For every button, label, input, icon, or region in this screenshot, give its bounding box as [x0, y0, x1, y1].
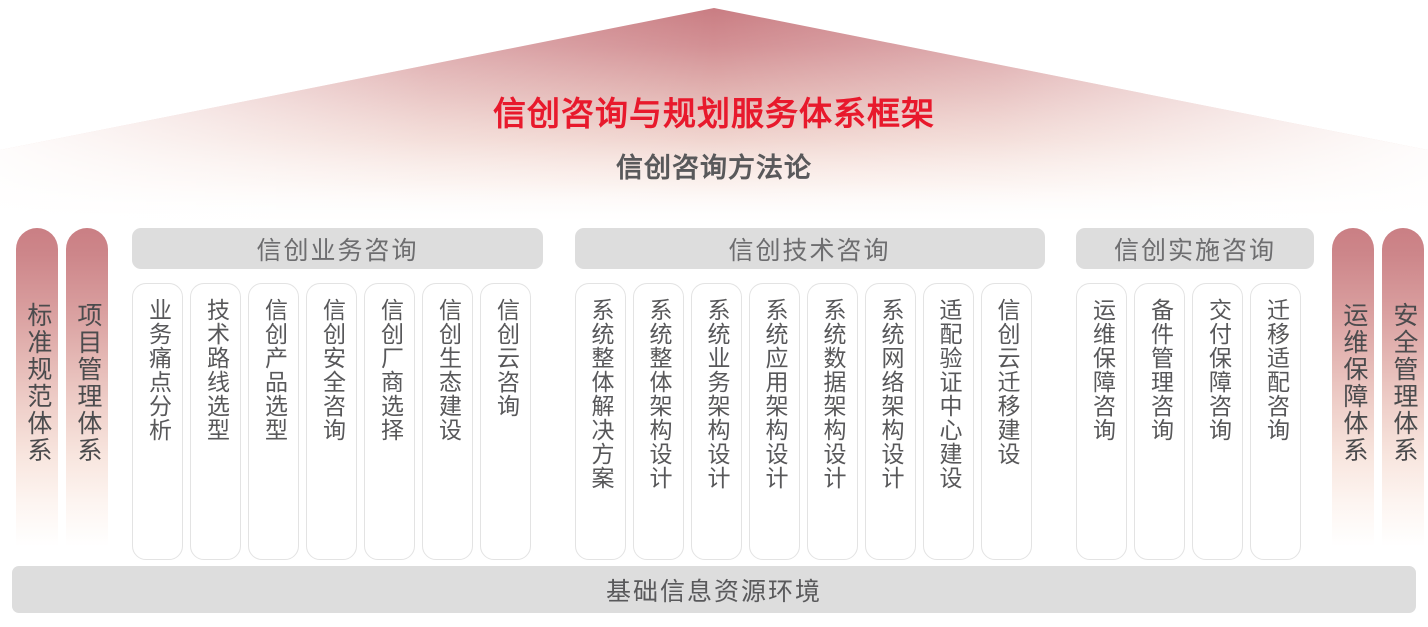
group-business-consulting: 信创业务咨询 业务痛点分析 技术路线选型 信创产品选型 信创安全咨询 信创厂商选…: [132, 228, 543, 560]
item-card[interactable]: 信创安全咨询: [306, 283, 357, 560]
item-card[interactable]: 系统数据架构设计: [807, 283, 858, 560]
roof-shape: [0, 0, 1428, 222]
item-card[interactable]: 业务痛点分析: [132, 283, 183, 560]
item-card[interactable]: 系统整体解决方案: [575, 283, 626, 560]
pillar-label: 标准规范体系: [24, 302, 50, 464]
item-label: 信创生态建设: [436, 298, 460, 442]
item-label: 系统整体解决方案: [588, 298, 612, 490]
pillars-and-columns: 标准规范体系 项目管理体系 信创业务咨询 业务痛点分析 技术路线选型 信创产品选…: [0, 228, 1428, 560]
item-card[interactable]: 系统业务架构设计: [691, 283, 742, 560]
item-label: 信创产品选型: [262, 298, 286, 442]
group-header[interactable]: 信创实施咨询: [1076, 228, 1314, 269]
group-items: 运维保障咨询 备件管理咨询 交付保障咨询 迁移适配咨询: [1076, 283, 1314, 560]
item-card[interactable]: 信创云咨询: [480, 283, 531, 560]
item-card[interactable]: 系统整体架构设计: [633, 283, 684, 560]
foundation-bar[interactable]: 基础信息资源环境: [12, 566, 1416, 613]
item-card[interactable]: 迁移适配咨询: [1250, 283, 1301, 560]
item-card[interactable]: 适配验证中心建设: [923, 283, 974, 560]
item-card[interactable]: 系统网络架构设计: [865, 283, 916, 560]
item-card[interactable]: 信创云迁移建设: [981, 283, 1032, 560]
item-label: 信创安全咨询: [320, 298, 344, 442]
group-header[interactable]: 信创技术咨询: [575, 228, 1045, 269]
item-label: 系统数据架构设计: [820, 298, 844, 490]
item-card[interactable]: 信创产品选型: [248, 283, 299, 560]
item-label: 备件管理咨询: [1148, 298, 1172, 442]
diagram-canvas: 信创咨询与规划服务体系框架 信创咨询方法论 标准规范体系 项目管理体系 信创业务…: [0, 0, 1428, 627]
group-items: 业务痛点分析 技术路线选型 信创产品选型 信创安全咨询 信创厂商选择 信创生态建…: [132, 283, 543, 560]
right-pillar-group: 运维保障体系 安全管理体系: [1328, 228, 1428, 560]
item-label: 运维保障咨询: [1090, 298, 1114, 442]
item-card[interactable]: 技术路线选型: [190, 283, 241, 560]
item-card[interactable]: 运维保障咨询: [1076, 283, 1127, 560]
item-label: 适配验证中心建设: [936, 298, 960, 490]
item-label: 业务痛点分析: [146, 298, 170, 442]
group-items: 系统整体解决方案 系统整体架构设计 系统业务架构设计 系统应用架构设计 系统数据…: [575, 283, 1045, 560]
item-label: 系统整体架构设计: [646, 298, 670, 490]
consulting-groups: 信创业务咨询 业务痛点分析 技术路线选型 信创产品选型 信创安全咨询 信创厂商选…: [112, 228, 1328, 560]
item-label: 系统应用架构设计: [762, 298, 786, 490]
item-label: 系统业务架构设计: [704, 298, 728, 490]
pillar-label: 运维保障体系: [1340, 302, 1366, 464]
item-label: 信创厂商选择: [378, 298, 402, 442]
pillar-label: 安全管理体系: [1390, 302, 1416, 464]
pillar-standard-spec-system[interactable]: 标准规范体系: [16, 228, 58, 560]
group-technical-consulting: 信创技术咨询 系统整体解决方案 系统整体架构设计 系统业务架构设计 系统应用架构…: [575, 228, 1045, 560]
pillar-security-management-system[interactable]: 安全管理体系: [1382, 228, 1424, 560]
item-card[interactable]: 信创厂商选择: [364, 283, 415, 560]
item-label: 迁移适配咨询: [1264, 298, 1288, 442]
group-header[interactable]: 信创业务咨询: [132, 228, 543, 269]
pillar-ops-assurance-system[interactable]: 运维保障体系: [1332, 228, 1374, 560]
group-implementation-consulting: 信创实施咨询 运维保障咨询 备件管理咨询 交付保障咨询 迁移适配咨询: [1076, 228, 1314, 560]
item-card[interactable]: 备件管理咨询: [1134, 283, 1185, 560]
pillar-project-management-system[interactable]: 项目管理体系: [66, 228, 108, 560]
item-card[interactable]: 信创生态建设: [422, 283, 473, 560]
foundation-label: 基础信息资源环境: [606, 572, 822, 608]
item-label: 系统网络架构设计: [878, 298, 902, 490]
left-pillar-group: 标准规范体系 项目管理体系: [12, 228, 112, 560]
item-label: 信创云咨询: [494, 298, 518, 418]
pillar-label: 项目管理体系: [74, 302, 100, 464]
item-card[interactable]: 系统应用架构设计: [749, 283, 800, 560]
item-label: 信创云迁移建设: [994, 298, 1018, 466]
item-label: 交付保障咨询: [1206, 298, 1230, 442]
item-card[interactable]: 交付保障咨询: [1192, 283, 1243, 560]
item-label: 技术路线选型: [204, 298, 228, 442]
